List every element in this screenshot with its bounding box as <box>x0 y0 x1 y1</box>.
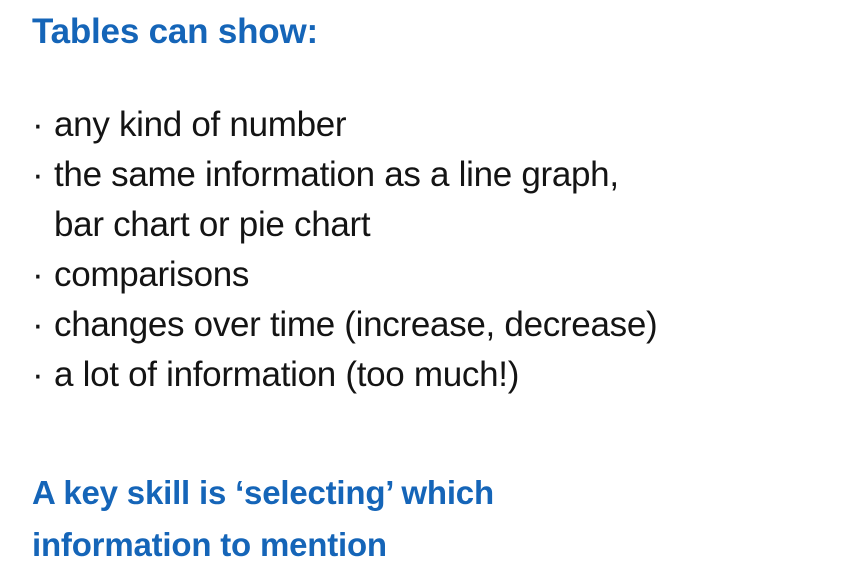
list-item: · any kind of number <box>32 100 842 150</box>
list-item: · changes over time (increase, decrease) <box>32 300 842 350</box>
list-item-label: the same information as a line graph, <box>54 150 842 200</box>
closing-statement-line-2: information to mention <box>32 519 832 571</box>
list-item: · comparisons <box>32 250 842 300</box>
bullet-point-icon: · <box>32 150 43 200</box>
list-item-label: any kind of number <box>54 100 842 150</box>
list-item-label: comparisons <box>54 250 842 300</box>
list-item: · the same information as a line graph, … <box>32 150 842 250</box>
closing-statement: A key skill is ‘selecting’ which informa… <box>32 467 832 571</box>
list-item: · a lot of information (too much!) <box>32 350 842 400</box>
bullet-point-icon: · <box>32 350 43 400</box>
list-item-label: changes over time (increase, decrease) <box>54 300 842 350</box>
bullet-point-icon: · <box>32 300 43 350</box>
bullet-point-icon: · <box>32 250 43 300</box>
bullet-list: · any kind of number · the same informat… <box>32 100 842 400</box>
page-title: Tables can show: <box>32 10 318 54</box>
slide-canvas: Tables can show: · any kind of number · … <box>0 0 860 575</box>
list-item-label-continued: bar chart or pie chart <box>54 205 370 244</box>
closing-statement-line-1: A key skill is ‘selecting’ which <box>32 467 832 519</box>
bullet-point-icon: · <box>32 100 43 150</box>
list-item-label: a lot of information (too much!) <box>54 350 842 400</box>
